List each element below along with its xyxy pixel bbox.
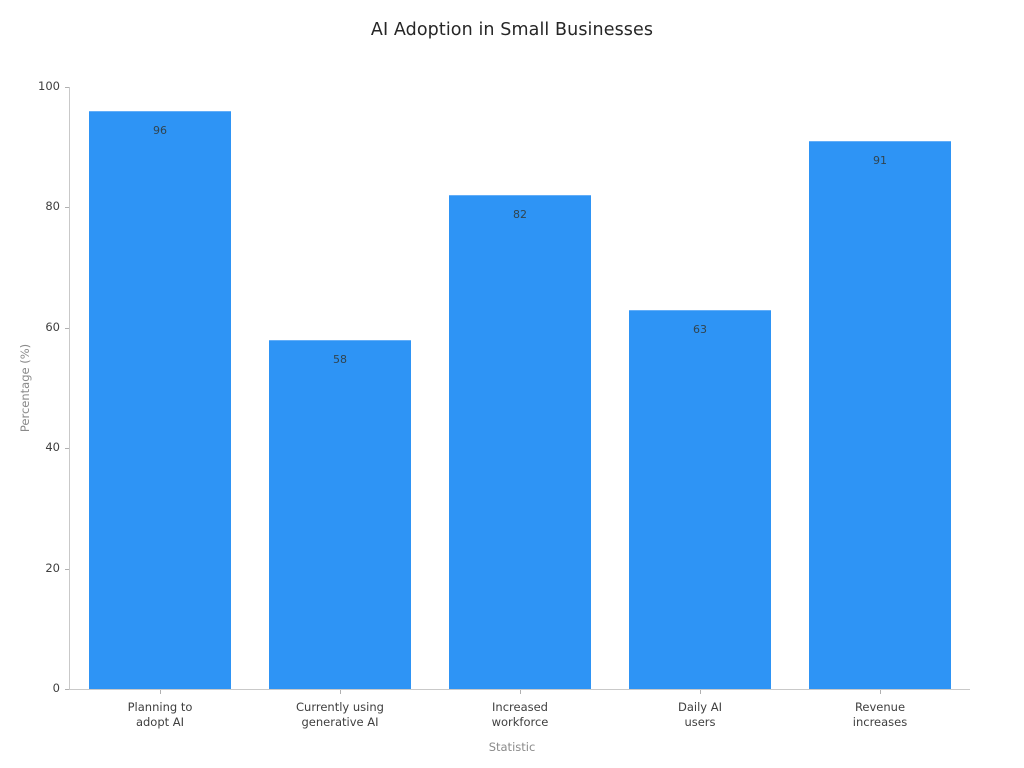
plot-area: 9658826391 bbox=[70, 87, 970, 689]
x-tick-mark bbox=[520, 690, 521, 694]
bar-value-label: 91 bbox=[809, 154, 951, 167]
y-tick-label: 80 bbox=[5, 199, 60, 213]
bar[interactable] bbox=[629, 310, 771, 689]
x-tick-label: Currently using generative AI bbox=[250, 700, 430, 730]
y-tick-label: 20 bbox=[5, 561, 60, 575]
y-tick-label: 60 bbox=[5, 320, 60, 334]
x-axis-label: Statistic bbox=[0, 740, 1024, 754]
bar[interactable] bbox=[89, 111, 231, 689]
bar-chart-figure: AI Adoption in Small Businesses Percenta… bbox=[0, 0, 1024, 768]
x-tick-label: Planning to adopt AI bbox=[70, 700, 250, 730]
x-tick-label: Increased workforce bbox=[430, 700, 610, 730]
bar[interactable] bbox=[449, 195, 591, 689]
y-tick-label: 0 bbox=[5, 681, 60, 695]
bar[interactable] bbox=[269, 340, 411, 689]
y-tick-label: 100 bbox=[5, 79, 60, 93]
y-axis-label: Percentage (%) bbox=[18, 87, 32, 689]
y-tick-mark bbox=[65, 87, 69, 88]
bar[interactable] bbox=[809, 141, 951, 689]
x-tick-mark bbox=[880, 690, 881, 694]
bar-value-label: 96 bbox=[89, 124, 231, 137]
chart-title: AI Adoption in Small Businesses bbox=[0, 20, 1024, 40]
y-tick-mark bbox=[65, 328, 69, 329]
bar-value-label: 82 bbox=[449, 208, 591, 221]
bar-value-label: 58 bbox=[269, 353, 411, 366]
x-tick-mark bbox=[340, 690, 341, 694]
x-tick-label: Revenue increases bbox=[790, 700, 970, 730]
y-tick-mark bbox=[65, 689, 69, 690]
y-tick-mark bbox=[65, 569, 69, 570]
x-tick-mark bbox=[700, 690, 701, 694]
x-tick-label: Daily AI users bbox=[610, 700, 790, 730]
y-tick-mark bbox=[65, 207, 69, 208]
bar-value-label: 63 bbox=[629, 323, 771, 336]
y-tick-mark bbox=[65, 448, 69, 449]
y-tick-label: 40 bbox=[5, 440, 60, 454]
x-tick-mark bbox=[160, 690, 161, 694]
